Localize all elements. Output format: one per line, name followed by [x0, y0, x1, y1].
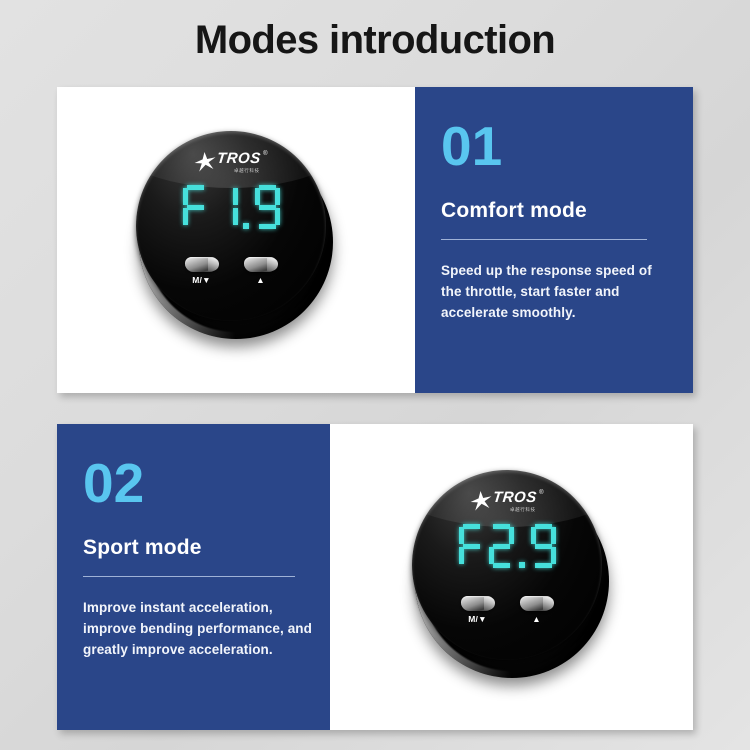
brand-subtitle: 卓越行科技	[510, 507, 536, 513]
mode-description: Speed up the response speed of the throt…	[441, 261, 667, 324]
brand-name: TROS	[493, 490, 538, 505]
device-panel: TROS ® 卓越行科技	[57, 87, 415, 393]
registered-trademark-icon: ®	[263, 151, 267, 157]
mode-up-button[interactable]: ▲	[520, 596, 553, 624]
registered-trademark-icon: ®	[539, 490, 543, 496]
mode-card-comfort: TROS ® 卓越行科技	[57, 87, 693, 393]
throttle-controller-device: TROS ® 卓越行科技	[136, 131, 336, 346]
led-digit-f	[458, 524, 485, 568]
mode-number: 02	[83, 456, 144, 511]
mode-description: Improve instant acceleration, improve be…	[83, 598, 315, 661]
brand-name: TROS	[217, 151, 262, 166]
mode-down-button-label: M/▼	[192, 276, 210, 285]
mode-down-button-label: M/▼	[468, 615, 486, 624]
device-face: TROS ® 卓越行科技	[412, 470, 602, 660]
mode-down-button[interactable]: M/▼	[461, 596, 494, 624]
led-digit-9	[530, 524, 557, 568]
device-buttons: M/▼ ▲	[412, 596, 602, 624]
mode-info-panel: 01 Comfort mode Speed up the response sp…	[415, 87, 693, 393]
device-face: TROS ® 卓越行科技	[136, 131, 326, 321]
mode-title: Comfort mode	[441, 199, 587, 223]
brand-logo: TROS ® 卓越行科技	[412, 490, 602, 513]
mode-title: Sport mode	[83, 536, 202, 560]
star-logo-icon	[194, 152, 216, 172]
mode-up-button-label: ▲	[256, 276, 265, 285]
mode-up-button-cap[interactable]	[244, 257, 277, 272]
mode-up-button-label: ▲	[532, 615, 541, 624]
mode-number: 01	[441, 119, 502, 174]
device-buttons: M/▼ ▲	[136, 257, 326, 285]
mode-up-button-cap[interactable]	[520, 596, 553, 611]
led-digit-f	[182, 185, 209, 229]
device-panel: TROS ® 卓越行科技	[330, 424, 693, 730]
mode-info-panel: 02 Sport mode Improve instant accelerati…	[57, 424, 330, 730]
mode-up-button[interactable]: ▲	[244, 257, 277, 285]
led-display	[136, 185, 326, 229]
mode-card-sport: 02 Sport mode Improve instant accelerati…	[57, 424, 693, 730]
brand-logo: TROS ® 卓越行科技	[136, 151, 326, 174]
star-logo-icon	[470, 491, 492, 511]
led-digit-2	[488, 524, 515, 568]
page-title: Modes introduction	[0, 18, 750, 63]
led-digit-9	[254, 185, 281, 229]
mode-down-button-cap[interactable]	[461, 596, 494, 611]
mode-divider	[441, 239, 647, 240]
led-display	[412, 524, 602, 568]
led-decimal-point	[518, 524, 527, 568]
mode-down-button[interactable]: M/▼	[185, 257, 218, 285]
led-decimal-point	[242, 185, 251, 229]
brand-subtitle: 卓越行科技	[234, 168, 260, 174]
throttle-controller-device: TROS ® 卓越行科技	[412, 470, 612, 685]
mode-down-button-cap[interactable]	[185, 257, 218, 272]
mode-divider	[83, 576, 295, 577]
led-digit-1	[212, 185, 239, 229]
